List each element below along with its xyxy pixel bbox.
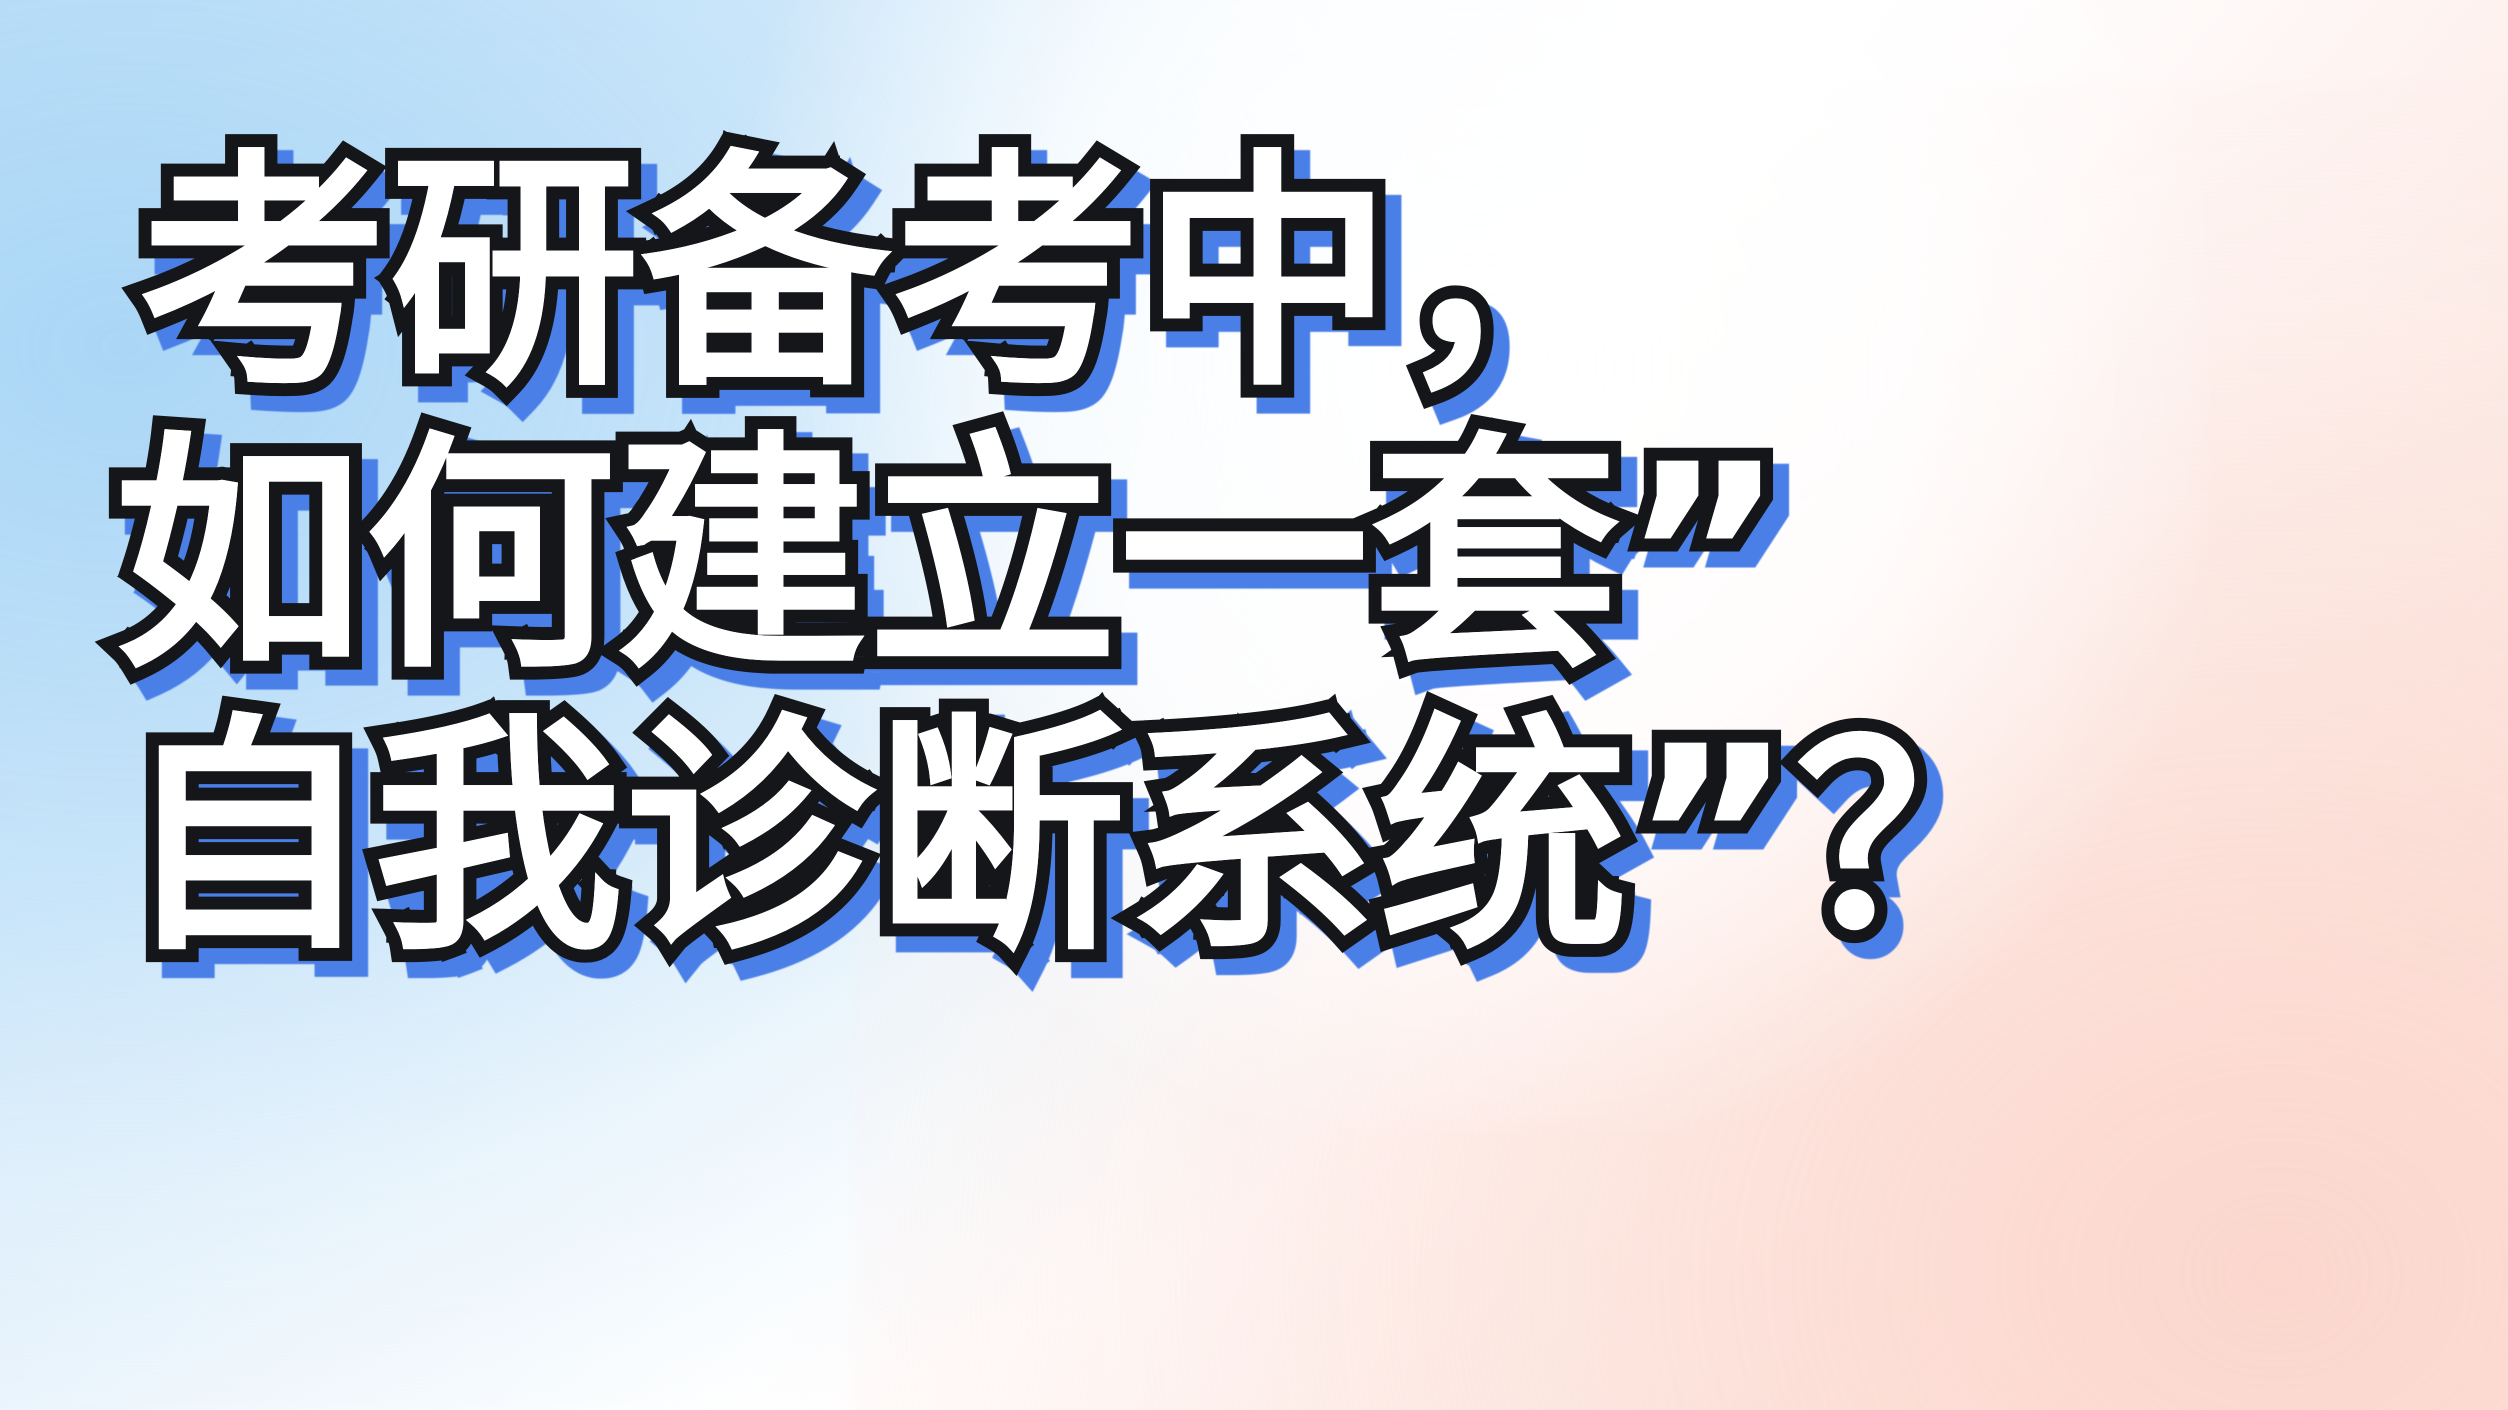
headline-line-2: 如何建立一套” 如何建立一套” 如何建立一套” 如何建立一套” (114, 432, 2408, 732)
headline-line-3-fill: 自我诊断系统”？ (122, 714, 2046, 964)
headline-line-2-fill: 如何建立一套” (114, 432, 1787, 682)
headline-block: 考研备考中， 考研备考中， 考研备考中， 考研备考中， 如何建立一套” 如何建立… (108, 150, 2408, 1014)
headline-line-1-fill: 考研备考中， (138, 150, 1646, 400)
headline-line-3: 自我诊断系统”？ 自我诊断系统”？ 自我诊断系统”？ 自我诊断系统”？ (122, 714, 2408, 1014)
poster-canvas: 考研备考中， 考研备考中， 考研备考中， 考研备考中， 如何建立一套” 如何建立… (0, 0, 2508, 1410)
headline-line-1: 考研备考中， 考研备考中， 考研备考中， 考研备考中， (138, 150, 2408, 450)
